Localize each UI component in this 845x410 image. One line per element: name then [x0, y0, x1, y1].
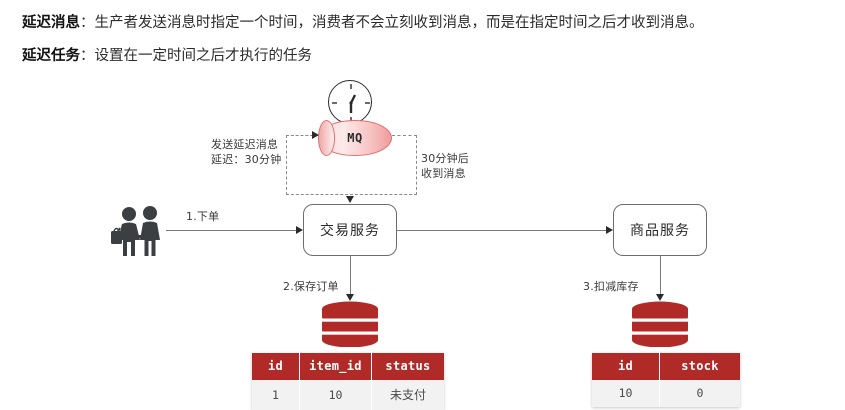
arrow-to-mq — [312, 131, 319, 139]
order-cell-item-id: 10 — [300, 380, 372, 410]
order-table-header-id: id — [252, 353, 300, 380]
arrow-user-to-trade — [296, 226, 303, 234]
clock-icon — [328, 80, 372, 124]
receive-delay-label: 30分钟后 收到消息 — [421, 152, 469, 181]
order-table-header-row: id item_id status — [252, 353, 444, 380]
item-cell-stock: 0 — [660, 380, 740, 407]
trade-service-node[interactable]: 交易服务 — [303, 204, 397, 256]
arrow-trade-to-goods — [606, 226, 613, 234]
delay-message-body: 生产者发送消息时指定一个时间，消费者不会立刻收到消息，而是在指定时间之后才收到消… — [95, 15, 704, 31]
order-cell-status: 未支付 — [372, 380, 444, 410]
order-table-header-item-id: item_id — [300, 353, 372, 380]
order-table: id item_id status 1 10 未支付 — [252, 353, 444, 410]
receive-delay-label-line2: 收到消息 — [421, 167, 469, 182]
line-trade-to-order-db — [350, 256, 351, 298]
item-table-header-id: id — [592, 353, 660, 380]
delay-message-colon: ： — [80, 15, 95, 31]
item-table-header-stock: stock — [660, 353, 740, 380]
line-user-to-trade — [166, 230, 297, 231]
goods-service-label: 商品服务 — [630, 220, 690, 240]
line-goods-to-item-db — [660, 256, 661, 298]
arrow-mq-to-trade — [346, 196, 354, 203]
item-table: id stock 10 0 — [592, 353, 740, 407]
delay-task-body: 设置在一定时间之后才执行的任务 — [95, 48, 313, 64]
delay-message-term: 延迟消息 — [22, 15, 80, 31]
order-database-icon — [321, 301, 379, 347]
arrow-trade-to-order-db — [346, 294, 354, 301]
send-delay-label: 发送延迟消息 延迟：30分钟 — [211, 138, 281, 167]
send-delay-label-line2: 延迟：30分钟 — [211, 153, 281, 168]
trade-service-label: 交易服务 — [320, 220, 380, 240]
step3-label: 3.扣减库存 — [583, 280, 639, 295]
delay-task-term: 延迟任务 — [22, 48, 80, 64]
order-cell-id: 1 — [252, 380, 300, 410]
order-table-header-status: status — [372, 353, 444, 380]
table-row: 1 10 未支付 — [252, 380, 444, 410]
people-icon — [108, 204, 170, 260]
goods-service-node[interactable]: 商品服务 — [613, 204, 707, 256]
step2-label: 2.保存订单 — [283, 280, 339, 295]
arrow-goods-to-item-db — [656, 294, 664, 301]
step1-label: 1.下单 — [186, 210, 219, 225]
dashed-delay-path — [286, 135, 417, 195]
architecture-diagram: MQ 发送延迟消息 延迟：30分钟 30分钟后 收到消息 — [0, 72, 845, 407]
line-trade-to-goods — [397, 230, 607, 231]
receive-delay-label-line1: 30分钟后 — [421, 152, 469, 167]
item-database-icon — [631, 301, 689, 347]
item-cell-id: 10 — [592, 380, 660, 407]
item-table-header-row: id stock — [592, 353, 740, 380]
delay-task-colon: ： — [80, 48, 95, 64]
send-delay-label-line1: 发送延迟消息 — [211, 138, 281, 153]
delay-message-paragraph: 延迟消息：生产者发送消息时指定一个时间，消费者不会立刻收到消息，而是在指定时间之… — [22, 12, 704, 34]
table-row: 10 0 — [592, 380, 740, 407]
delay-task-paragraph: 延迟任务：设置在一定时间之后才执行的任务 — [22, 45, 312, 67]
